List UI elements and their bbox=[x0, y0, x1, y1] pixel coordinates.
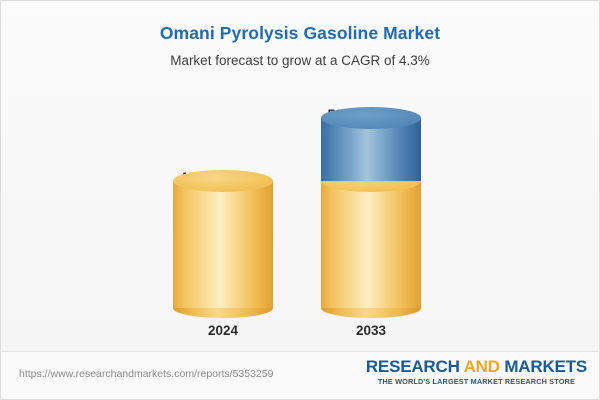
cylinder-segment-base-2024 bbox=[173, 181, 273, 308]
chart-canvas: Omani Pyrolysis Gasoline Market Market f… bbox=[0, 0, 600, 400]
research-and-markets-logo[interactable]: RESEARCH AND MARKETS THE WORLD'S LARGEST… bbox=[366, 358, 587, 386]
bar-group-2033: 590,090 Tons bbox=[321, 1, 421, 346]
logo-tagline: THE WORLD'S LARGEST MARKET RESEARCH STOR… bbox=[366, 377, 587, 386]
cylinder-top-cap-2024 bbox=[173, 170, 273, 192]
cylinder-2033[interactable] bbox=[321, 118, 421, 308]
footer: https://www.researchandmarkets.com/repor… bbox=[1, 351, 600, 399]
logo-wordmark: RESEARCH AND MARKETS bbox=[366, 358, 587, 376]
plot-area: 404,750 Tons 2024 590,090 Tons bbox=[1, 1, 600, 346]
report-url[interactable]: https://www.researchandmarkets.com/repor… bbox=[19, 368, 273, 380]
category-label-2024: 2024 bbox=[208, 323, 238, 338]
bar-group-2024: 404,750 Tons 2024 bbox=[173, 1, 273, 346]
logo-word-research: RESEARCH bbox=[366, 357, 460, 376]
logo-word-markets: MARKETS bbox=[504, 357, 587, 376]
logo-word-and: AND bbox=[464, 357, 500, 376]
cylinder-2024[interactable] bbox=[173, 181, 273, 308]
category-label-2033: 2033 bbox=[356, 323, 386, 338]
cylinder-top-cap-2033 bbox=[321, 107, 421, 129]
